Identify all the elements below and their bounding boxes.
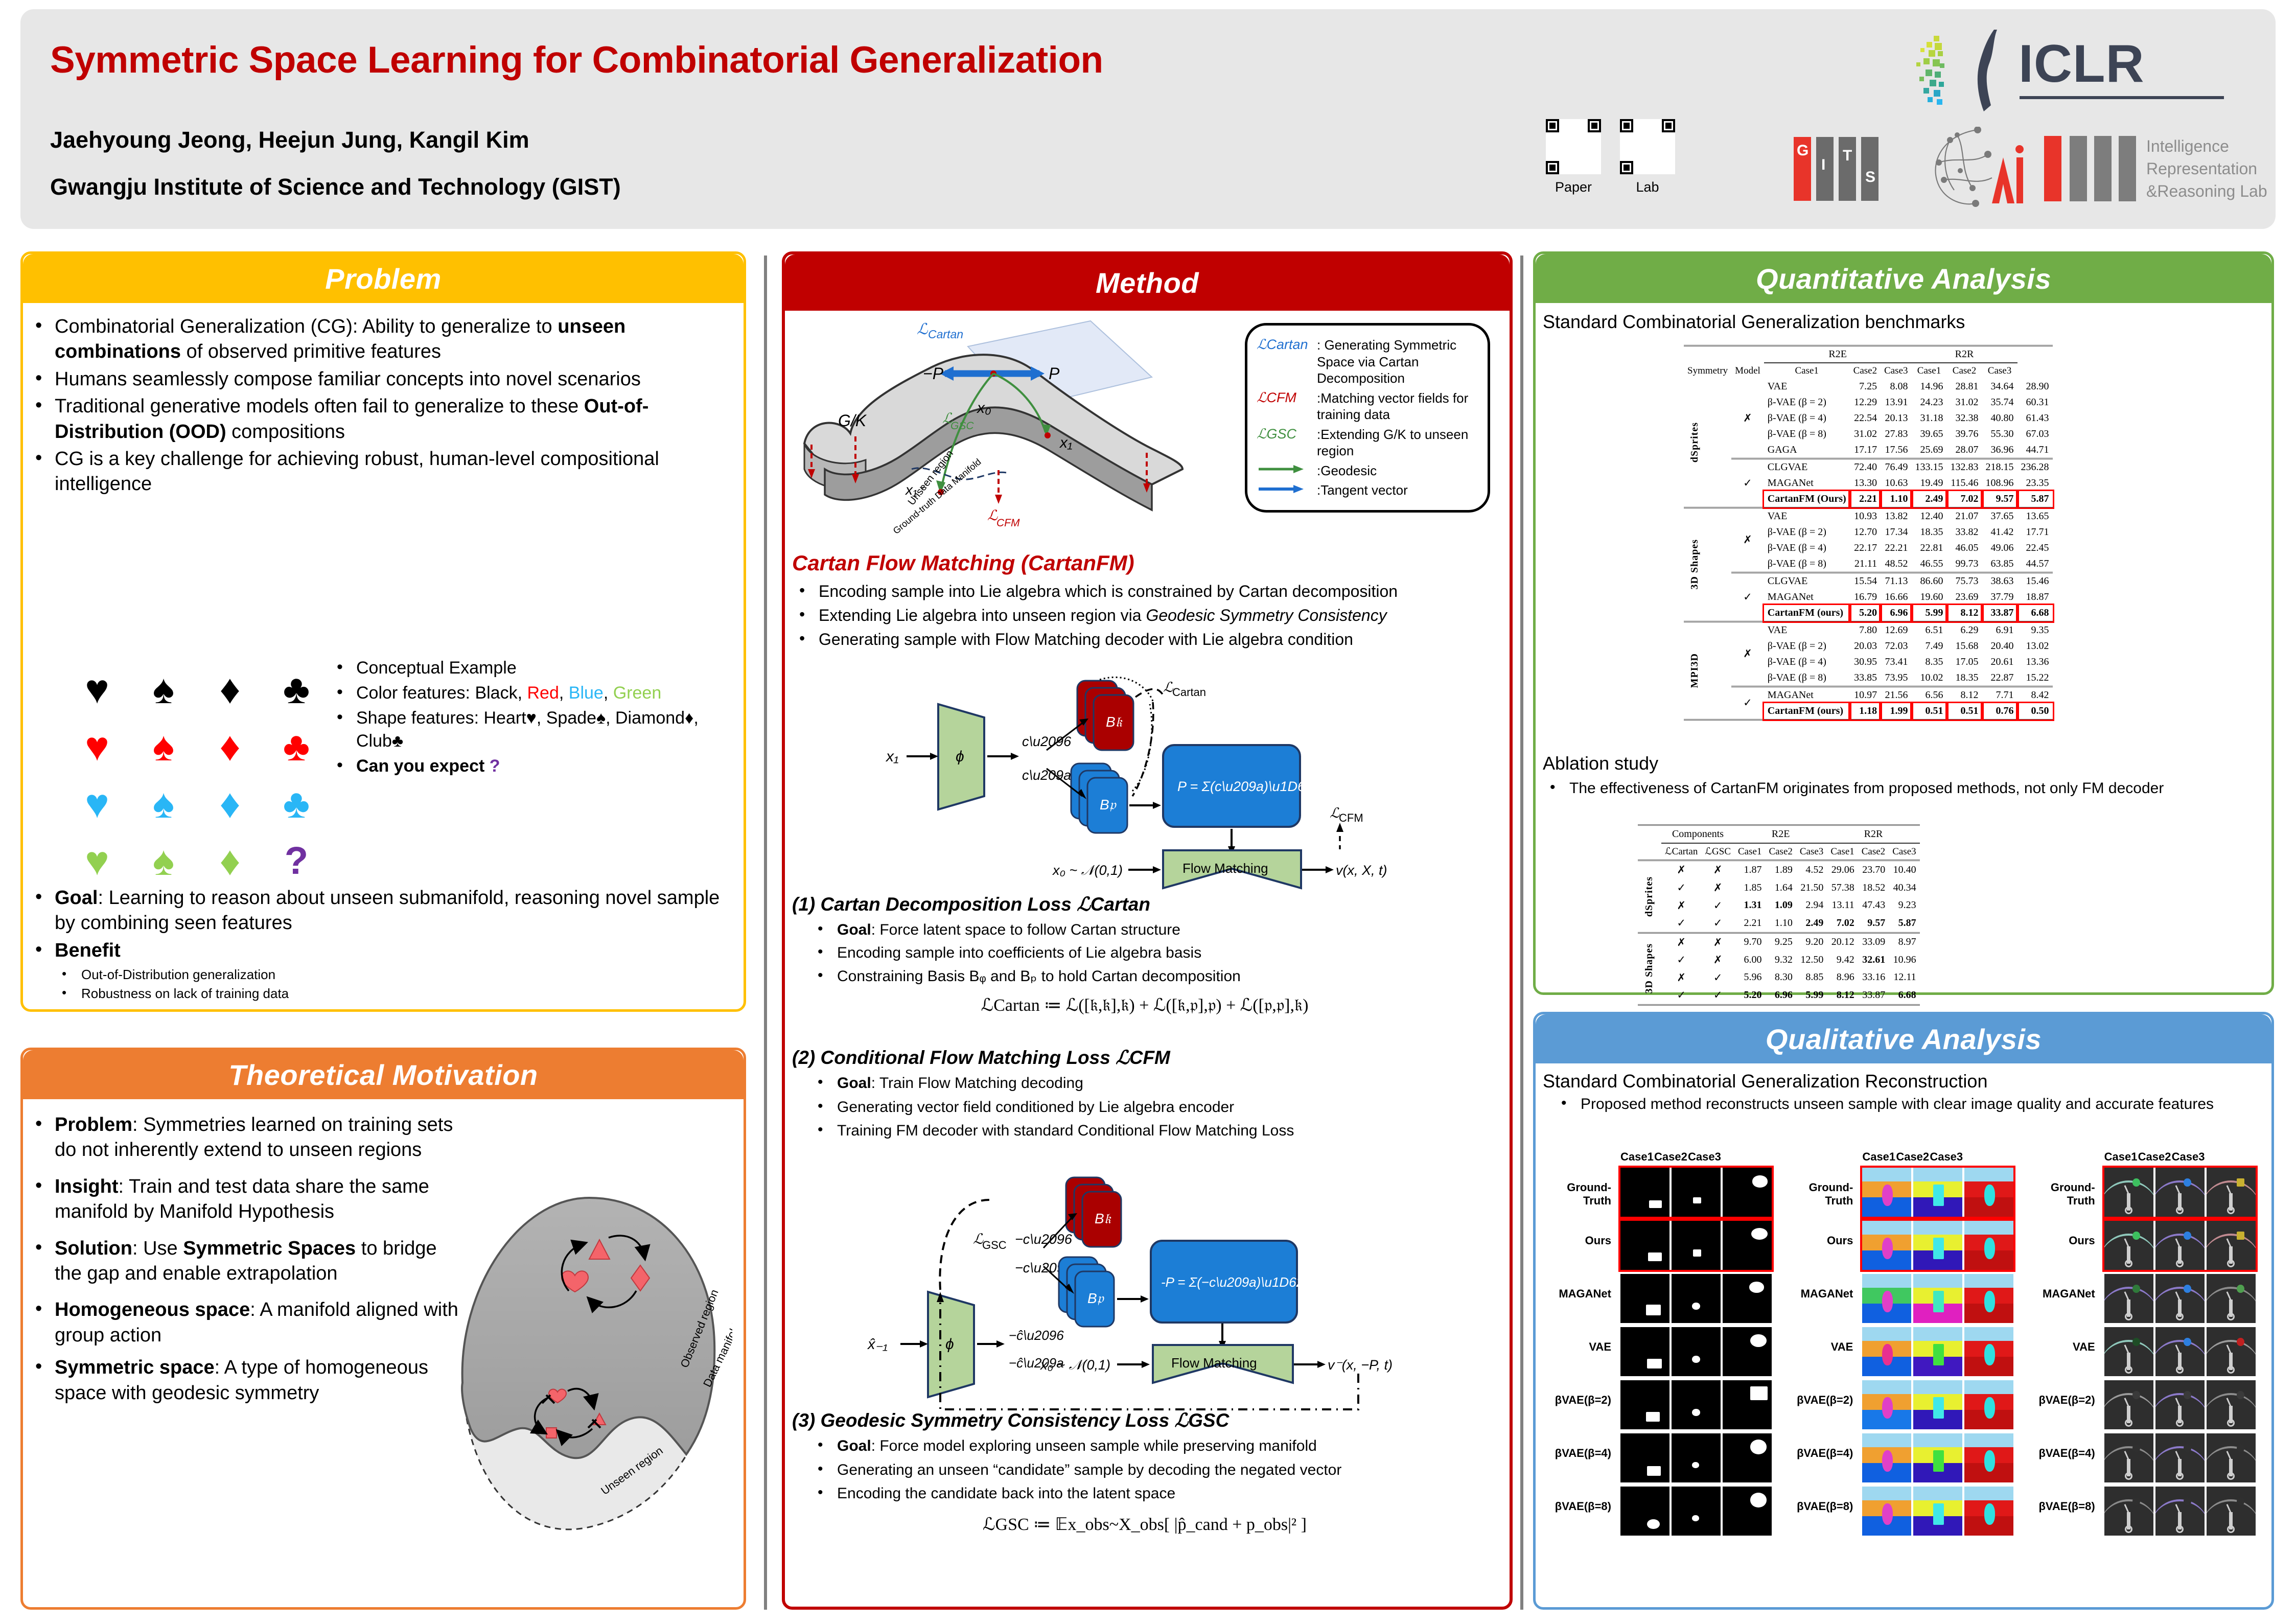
symmetry-flag: ✓	[1731, 686, 1764, 720]
metric-cell: 1.10	[1765, 914, 1796, 933]
sample-image	[1672, 1274, 1721, 1323]
irr-line-2: Representation	[2146, 159, 2257, 178]
metric-cell: 13.02	[2017, 638, 2053, 654]
metric-cell: 24.23	[1912, 395, 1947, 410]
image-row	[1620, 1487, 1772, 1536]
formula-gsc: ℒGSC ≔ 𝔼x_obs~X_obs[ |p̂_cand + p_obs|² …	[792, 1514, 1497, 1535]
sample-image	[2207, 1487, 2256, 1536]
suit-club: ♣	[263, 783, 330, 824]
column-header-case2: Case2	[2138, 1150, 2170, 1164]
metric-cell: 40.80	[1982, 410, 2017, 426]
symmetry-flag: ✓	[1731, 458, 1764, 507]
loss-cartan-sub-1: Cartan	[1172, 686, 1206, 699]
theory-bullets: Problem: Symmetries learned on training …	[23, 1099, 473, 1406]
metric-cell: 9.23	[1889, 897, 1919, 915]
shapes3d-render	[1862, 1168, 1911, 1217]
shapes3d-render	[1862, 1433, 1911, 1482]
model-name: β-VAE (β = 2)	[1764, 395, 1850, 410]
metric-cell: 5.99	[1912, 605, 1947, 622]
metric-cell: 28.81	[1947, 379, 1982, 395]
legend-row-cartan: ℒCartan : Generating Symmetric Space via…	[1257, 337, 1478, 387]
sample-image	[1672, 1380, 1721, 1429]
benchmarks-title: Standard Combinatorial Generalization be…	[1536, 303, 2271, 335]
metric-cell: 41.42	[1982, 524, 2017, 540]
metric-cell: 2.21	[1734, 914, 1765, 933]
sample-image	[2104, 1327, 2153, 1376]
row-label-vae8: βVAE(β=8)	[2028, 1500, 2100, 1513]
metric-cell: 21.11	[1850, 556, 1881, 573]
table-row: ✗✓5.968.308.858.9633.1612.11	[1638, 969, 1920, 987]
metric-cell: 39.65	[1912, 426, 1947, 442]
divider-left	[764, 256, 767, 1610]
shapes3d-render	[1862, 1274, 1911, 1323]
image-row	[1620, 1274, 1772, 1323]
metric-cell: 6.29	[1947, 621, 1982, 638]
metric-cell: 23.69	[1947, 589, 1982, 605]
input-label-2: x̂₋₁	[867, 1336, 888, 1353]
list-item: Color features: Black, Red, Blue, Green	[330, 682, 733, 705]
metric-cell: 6.68	[2017, 605, 2053, 622]
dsprite-shape	[1750, 1386, 1768, 1400]
list-item: Insight: Train and test data share the s…	[28, 1174, 460, 1225]
basis-k-stack-1: B𝔨	[1077, 681, 1133, 750]
dsprite-shape	[1647, 1519, 1660, 1529]
metric-cell: 133.15	[1912, 458, 1947, 475]
sample-image	[1964, 1168, 2013, 1217]
dsprite-shape	[1751, 1228, 1768, 1240]
panel-method: Method	[782, 251, 1513, 1610]
irr-bar-3	[2094, 136, 2112, 201]
qr-lab-block[interactable]: Lab	[1620, 119, 1675, 195]
list-item: Encoding sample into coefficients of Lie…	[810, 942, 1497, 963]
metric-cell: 35.74	[1982, 395, 2017, 410]
output-label-2: v⁻(x, −P, t)	[1328, 1357, 1393, 1373]
group-r2r: R2R	[1912, 346, 2017, 363]
model-name: β-VAE (β = 4)	[1764, 654, 1850, 670]
legend-sym-cartan: ℒCartan	[1257, 337, 1317, 387]
metric-cell: 5.87	[2017, 491, 2053, 508]
mpi3d-render	[2104, 1168, 2153, 1217]
metric-cell: 0.76	[1982, 703, 2017, 720]
sample-image	[1620, 1327, 1669, 1376]
quant-heading: Quantitative Analysis	[1536, 254, 2271, 303]
model-name: β-VAE (β = 4)	[1764, 410, 1850, 426]
model-name: GAGA	[1764, 442, 1850, 459]
row-label-maganet: MAGANet	[1544, 1287, 1616, 1301]
svg-text:B𝔨: B𝔨	[1106, 714, 1123, 730]
metric-cell: 236.28	[2017, 458, 2053, 475]
shapes3d-render	[1964, 1487, 2013, 1536]
metric-cell: 1.18	[1850, 703, 1881, 720]
sample-image	[1862, 1433, 1911, 1482]
irr-lab-logo: Intelligence Representation &Reasoning L…	[2044, 136, 2289, 202]
mpi3d-grid: Case1Case2Case3Ground-TruthOursMAGANetVA…	[2028, 1150, 2264, 1590]
mpi3d-render	[2104, 1274, 2153, 1323]
metric-cell: 8.85	[1796, 969, 1827, 987]
list-item: Homogeneous space: A manifold aligned wi…	[28, 1297, 460, 1348]
suit-heart: ♥	[64, 726, 130, 767]
group-r2r: R2R	[1827, 825, 1919, 844]
suit-club: ♣	[263, 669, 330, 710]
image-row	[1620, 1380, 1772, 1429]
sample-image	[1964, 1487, 2013, 1536]
image-row	[1620, 1168, 1772, 1217]
table-row: ✗✓1.311.092.9413.1147.439.23	[1638, 897, 1920, 915]
metric-cell: 1.89	[1765, 861, 1796, 879]
metric-cell: 7.02	[1827, 914, 1858, 933]
column-header-case1: Case1	[1862, 1150, 1894, 1164]
metric-cell: 33.85	[1850, 670, 1881, 687]
metric-cell: 36.96	[1982, 442, 2017, 459]
dsprite-shape	[1692, 1356, 1700, 1363]
image-row	[2104, 1168, 2256, 1217]
shapes3d-render	[1913, 1327, 1962, 1376]
mpi3d-render	[2104, 1221, 2153, 1270]
metric-cell: 25.69	[1912, 442, 1947, 459]
results-table: R2ER2RSymmetryModelCase1Case2Case3Case1C…	[1684, 345, 2053, 721]
metric-cell: 8.35	[1912, 654, 1947, 670]
metric-cell: 22.54	[1850, 410, 1881, 426]
svg-text:B𝔨: B𝔨	[1095, 1211, 1111, 1226]
metric-cell: 0.50	[2017, 703, 2053, 720]
model-name: β-VAE (β = 8)	[1764, 426, 1850, 442]
noise-label-1: x₀ ~ 𝒩(0,1)	[1052, 863, 1123, 878]
metric-cell: 6.00	[1734, 951, 1765, 969]
metric-cell: 18.35	[1947, 670, 1982, 687]
qr-paper-icon[interactable]	[1546, 119, 1601, 174]
metric-cell: 31.18	[1912, 410, 1947, 426]
sample-image	[2104, 1168, 2153, 1217]
symmetry-flag: ✓	[1731, 572, 1764, 621]
poster-header: Symmetric Space Learning for Combinatori…	[20, 9, 2276, 229]
green-arrow-icon	[1257, 464, 1317, 477]
list-item: Problem: Symmetries learned on training …	[28, 1112, 460, 1163]
gist-bar-3	[1839, 137, 1856, 201]
legend-text-tangent: :Tangent vector	[1317, 482, 1478, 499]
table-row: ✓MAGANet10.9721.566.568.127.718.42	[1684, 686, 2053, 703]
formula-cartan: ℒCartan ≔ ℒ([𝔨,𝔨],𝔨) + ℒ([𝔨,𝔭],𝔭) + ℒ([𝔭…	[792, 995, 1497, 1015]
svg-text:Cartan: Cartan	[928, 328, 963, 341]
irr-line-3: &Reasoning Lab	[2146, 182, 2267, 201]
method-manifold-figure: ℒ Cartan −P P x₀ x₁ x₁⁻ G/K ℒ GSC ℒ CFM …	[794, 316, 1244, 546]
shapes3d-render	[1913, 1274, 1962, 1323]
metric-cell: 76.49	[1881, 458, 1911, 475]
sample-image	[1862, 1327, 1911, 1376]
dsprite-shape	[1693, 1197, 1701, 1203]
shapes3d-render	[1913, 1168, 1962, 1217]
row-label-vae8: βVAE(β=8)	[1785, 1500, 1858, 1513]
dsprite-shape	[1692, 1409, 1700, 1416]
basis-k-stack-2: B𝔨	[1066, 1177, 1121, 1247]
sample-image	[1620, 1274, 1669, 1323]
svg-text:CFM: CFM	[996, 517, 1020, 529]
sample-image	[1862, 1274, 1911, 1323]
metric-cell: 37.65	[1982, 507, 2017, 524]
model-name: VAE	[1764, 621, 1850, 638]
ai-network-icon	[1927, 127, 2034, 208]
metric-cell: 22.17	[1850, 540, 1881, 556]
model-name: β-VAE (β = 2)	[1764, 524, 1850, 540]
section1-title: (1) Cartan Decomposition Loss ℒCartan	[792, 893, 1497, 915]
metric-cell: 32.61	[1858, 951, 1889, 969]
section2-title: (2) Conditional Flow Matching Loss ℒCFM	[792, 1047, 1497, 1069]
metric-cell: 15.68	[1947, 638, 1982, 654]
list-item: Traditional generative models often fail…	[28, 394, 729, 445]
column-header-case3: Case3	[1930, 1150, 1961, 1164]
author-list: Jaehyoung Jeong, Heejun Jung, Kangil Kim	[50, 127, 529, 153]
metric-cell: 33.87	[1982, 605, 2017, 622]
svg-text:B𝔭: B𝔭	[1100, 797, 1117, 813]
svg-text:GSC: GSC	[950, 420, 974, 432]
output-label-1: v(x, X, t)	[1336, 863, 1387, 878]
list-item: Generating an unseen “candidate” sample …	[810, 1459, 1497, 1481]
sample-image	[1913, 1487, 1962, 1536]
suit-diamond: ♦	[197, 783, 263, 824]
qr-lab-icon[interactable]	[1620, 119, 1675, 174]
metric-cell: 10.96	[1889, 951, 1919, 969]
problem-goal-benefit: Goal: Learning to reason about unseen su…	[28, 886, 733, 1004]
projection-label-2: -P = Σ(−c\u209a)\u1D62(B\u209a)\u1D62	[1161, 1274, 1405, 1290]
shapes3d-render	[1862, 1327, 1911, 1376]
table-row: 3D Shapes✗VAE10.9313.8212.4021.0737.6513…	[1684, 507, 2053, 524]
sample-image	[2207, 1327, 2256, 1376]
metric-cell: 1.99	[1881, 703, 1911, 720]
sample-image	[1964, 1327, 2013, 1376]
model-name: β-VAE (β = 8)	[1764, 670, 1850, 687]
mpi3d-render	[2155, 1433, 2205, 1482]
shapes3d-render	[1964, 1327, 2013, 1376]
metric-cell: 18.35	[1912, 524, 1947, 540]
sample-image	[1672, 1221, 1721, 1270]
dsprite-shape	[1692, 1515, 1699, 1521]
architecture-diagram-1: ϕ x₁ c\u2096 c\u209a B𝔨 B𝔭	[846, 668, 1449, 893]
gist-letter-s: T	[1843, 147, 1852, 165]
metric-cell: 22.81	[1912, 540, 1947, 556]
metric-cell: 33.82	[1947, 524, 1982, 540]
metric-cell: 27.83	[1881, 426, 1911, 442]
mpi3d-render	[2207, 1274, 2256, 1323]
component-flag: ✗	[1701, 951, 1734, 969]
metric-cell: 20.61	[1982, 654, 2017, 670]
sample-image	[1620, 1168, 1669, 1217]
metric-cell: 31.02	[1850, 426, 1881, 442]
metric-cell: 20.12	[1827, 933, 1858, 951]
legend-row-cfm: ℒCFM :Matching vector fields for trainin…	[1257, 390, 1478, 423]
metric-cell: 21.56	[1881, 686, 1911, 703]
mpi3d-render	[2155, 1380, 2205, 1429]
suit-unknown: ?	[263, 842, 330, 880]
list-item: Generating sample with Flow Matching dec…	[792, 629, 1497, 651]
encoder-label-1: ϕ	[956, 748, 964, 765]
theory-heading: Theoretical Motivation	[23, 1050, 744, 1099]
shapes3d-render	[1964, 1433, 2013, 1482]
iclr-logo: ICLR	[1906, 29, 2264, 121]
sample-image	[1913, 1433, 1962, 1482]
metric-cell: 38.63	[1982, 572, 2017, 589]
dsprite-shape	[1749, 1282, 1764, 1292]
legend-text-geodesic: :Geodesic	[1317, 462, 1478, 479]
divider-right	[1520, 256, 1523, 1610]
metric-cell: 28.07	[1947, 442, 1982, 459]
iclr-head-icon	[1957, 29, 2013, 113]
metric-cell: 8.12	[1947, 686, 1982, 703]
metric-cell: 73.95	[1881, 670, 1911, 687]
row-label-groundtruth: Ground-Truth	[1544, 1181, 1616, 1208]
label-p: P	[1049, 364, 1060, 383]
metric-cell: 7.25	[1850, 379, 1881, 395]
row-label-maganet: MAGANet	[1785, 1287, 1858, 1301]
shapes3d-render	[1913, 1487, 1962, 1536]
list-item: Robustness on lack of training data	[55, 985, 723, 1002]
metric-cell: 75.73	[1947, 572, 1982, 589]
metric-cell: 218.15	[1982, 458, 2017, 475]
iclr-underline	[2020, 96, 2224, 99]
sample-image	[2155, 1274, 2205, 1323]
sample-image	[1723, 1221, 1772, 1270]
loss-cfm-sub-1: CFM	[1339, 811, 1363, 824]
metric-cell: 0.51	[1947, 703, 1982, 720]
metric-cell: 19.49	[1912, 475, 1947, 491]
metric-cell: 10.97	[1850, 686, 1881, 703]
row-label-vae8: βVAE(β=8)	[1544, 1500, 1616, 1513]
table-row: dSprites✗✗1.871.894.5229.0623.7010.40	[1638, 861, 1920, 879]
metric-cell: 7.49	[1912, 638, 1947, 654]
table-row: ✓✗1.851.6421.5057.3818.5240.34	[1638, 879, 1920, 897]
metric-cell: 16.66	[1881, 589, 1911, 605]
component-flag: ✓	[1701, 969, 1734, 987]
metric-cell: 9.57	[1982, 491, 2017, 508]
metric-cell: 40.34	[1889, 879, 1919, 897]
panel-qualitative: Qualitative Analysis Standard Combinator…	[1533, 1012, 2274, 1610]
sample-image	[2104, 1380, 2153, 1429]
manifold-figure: Observed region Data manifold Unseen reg…	[446, 1189, 732, 1546]
legend-sym-gsc: ℒGSC	[1257, 426, 1317, 459]
mpi3d-render	[2155, 1327, 2205, 1376]
model-name: CartanFM (Ours)	[1764, 491, 1850, 508]
image-row	[1862, 1221, 2013, 1270]
list-item: Goal: Force latent space to follow Carta…	[810, 919, 1497, 940]
metric-cell: 48.52	[1881, 556, 1911, 573]
component-flag: ✗	[1661, 897, 1701, 915]
model-name: CartanFM (ours)	[1764, 703, 1850, 720]
row-label-ours: Ours	[1785, 1234, 1858, 1247]
table-row: ✓CLGVAE72.4076.49133.15132.83218.15236.2…	[1684, 458, 2053, 475]
metric-cell: 33.16	[1858, 969, 1889, 987]
qr-paper-block[interactable]: Paper	[1546, 119, 1601, 195]
metric-cell: 12.40	[1912, 507, 1947, 524]
component-flag: ✓	[1701, 897, 1734, 915]
metric-cell: 46.55	[1912, 556, 1947, 573]
label-minus-p: −P	[923, 364, 944, 383]
metric-cell: 44.57	[2017, 556, 2053, 573]
metric-cell: 61.43	[2017, 410, 2053, 426]
group-r2e: R2E	[1734, 825, 1827, 844]
row-label-vae4: βVAE(β=4)	[2028, 1447, 2100, 1460]
sample-image	[1913, 1221, 1962, 1270]
card-row: ♥ ♠ ♦ ?	[64, 832, 330, 890]
mpi3d-render	[2155, 1487, 2205, 1536]
metric-cell: 1.85	[1734, 879, 1765, 897]
metric-cell: 6.56	[1912, 686, 1947, 703]
poster-root: Symmetric Space Learning for Combinatori…	[0, 0, 2296, 1624]
metric-cell: 132.83	[1947, 458, 1982, 475]
metric-cell: 9.70	[1734, 933, 1765, 951]
metric-cell: 10.93	[1850, 507, 1881, 524]
irr-bar-1	[2044, 136, 2061, 201]
metric-cell: 57.38	[1827, 879, 1858, 897]
metric-cell: 10.63	[1881, 475, 1911, 491]
metric-cell: 22.21	[1881, 540, 1911, 556]
sample-image	[1862, 1221, 1911, 1270]
metric-cell: 2.49	[1912, 491, 1947, 508]
list-item: Shape features: Heart♥, Spade♠, Diamond♦…	[330, 707, 733, 753]
metric-cell: 10.40	[1889, 861, 1919, 879]
component-flag: ✓	[1701, 914, 1734, 933]
table-row: ✓✗6.009.3212.509.4232.6110.96	[1638, 951, 1920, 969]
image-row	[1862, 1327, 2013, 1376]
shapes3d-grid: Case1Case2Case3Ground-TruthOursMAGANetVA…	[1785, 1150, 2022, 1590]
list-item-benefit: Benefit Out-of-Distribution generalizati…	[28, 938, 723, 1002]
table-row: MPI3D✗VAE7.8012.696.516.296.919.35	[1684, 621, 2053, 638]
component-flag: ✓	[1661, 951, 1701, 969]
mpi3d-render	[2104, 1380, 2153, 1429]
metric-cell: 32.38	[1947, 410, 1982, 426]
sample-image	[2155, 1221, 2205, 1270]
table-row: ✓CLGVAE15.5471.1386.6075.7338.6315.46	[1684, 572, 2053, 589]
legend-text-cfm: :Matching vector fields for training dat…	[1317, 390, 1478, 423]
dataset-label: 3D Shapes	[1641, 943, 1657, 993]
sample-image	[2155, 1168, 2205, 1217]
sample-image	[1964, 1433, 2013, 1482]
list-item: Out-of-Distribution generalization	[55, 966, 723, 983]
metric-cell: 72.40	[1850, 458, 1881, 475]
metric-cell: 15.46	[2017, 572, 2053, 589]
metric-cell: 17.05	[1947, 654, 1982, 670]
loss-gsc-sub-2: GSC	[982, 1239, 1007, 1251]
metric-cell: 28.90	[2017, 379, 2053, 395]
metric-cell: 12.69	[1881, 621, 1911, 638]
gist-letter-t: S	[1865, 169, 1875, 186]
metric-cell: 18.52	[1858, 879, 1889, 897]
shapes3d-render	[1964, 1274, 2013, 1323]
label-gk: G/K	[838, 411, 867, 430]
dsprite-shape	[1750, 1334, 1767, 1347]
image-row	[2104, 1327, 2256, 1376]
shapes3d-render	[1964, 1221, 2013, 1270]
model-name: CLGVAE	[1764, 572, 1850, 589]
list-item: Solution: Use Symmetric Spaces to bridge…	[28, 1236, 460, 1287]
gist-letter-i: I	[1821, 156, 1825, 174]
symmetry-flag: ✗	[1731, 379, 1764, 459]
sample-image	[1964, 1380, 2013, 1429]
row-label-vae: VAE	[1785, 1340, 1858, 1354]
list-item: Encoding sample into Lie algebra which i…	[792, 581, 1497, 602]
dsprite-shape	[1750, 1493, 1767, 1507]
metric-cell: 39.76	[1947, 426, 1982, 442]
metric-cell: 8.30	[1765, 969, 1796, 987]
sample-image	[2207, 1221, 2256, 1270]
metric-cell: 63.85	[1982, 556, 2017, 573]
irr-bar-4	[2119, 136, 2136, 201]
list-item: Proposed method reconstructs unseen samp…	[1554, 1094, 2231, 1115]
metric-cell: 8.08	[1881, 379, 1911, 395]
method-heading: Method	[785, 254, 1510, 311]
metric-cell: 108.96	[1982, 475, 2017, 491]
metric-cell: 2.49	[1796, 914, 1827, 933]
model-name: VAE	[1764, 507, 1850, 524]
mpi3d-render	[2207, 1487, 2256, 1536]
sample-image	[1862, 1487, 1911, 1536]
